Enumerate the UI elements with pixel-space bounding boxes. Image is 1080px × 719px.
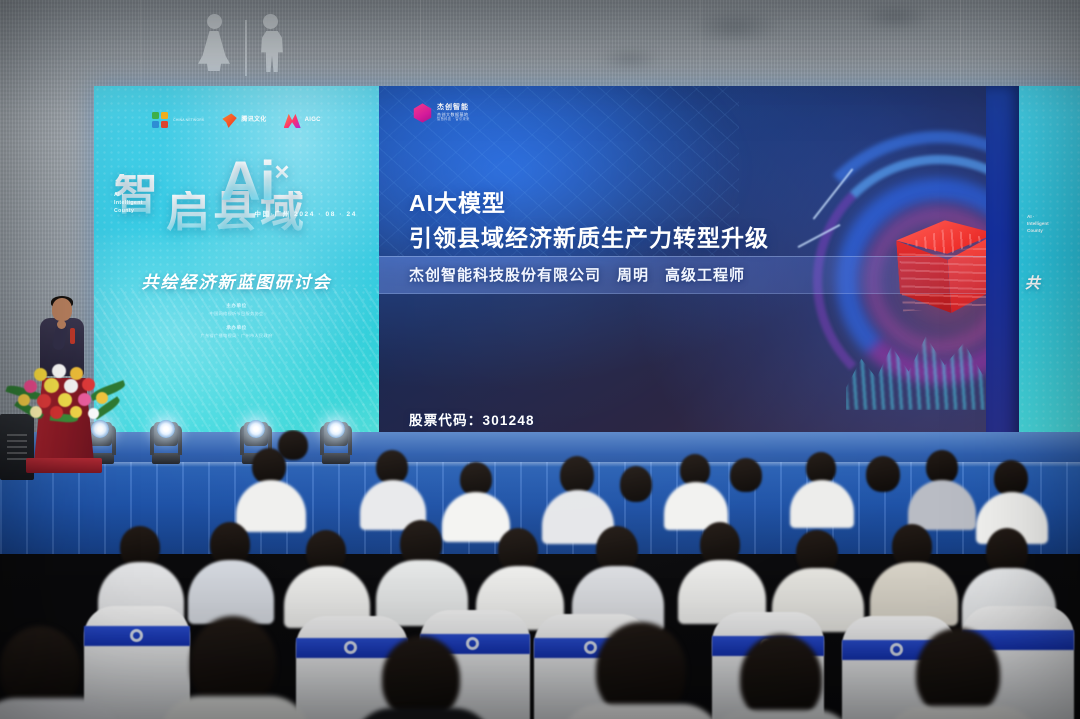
presentation-slide: 杰创智能 杰创大数据基地 智慧科技 · 智引未来 AI大模型 引领县域经济新质生… xyxy=(379,86,1080,468)
sash-ring xyxy=(344,641,357,654)
audience-torso xyxy=(442,492,510,542)
tencent-culture-label: 腾讯文化 xyxy=(241,117,266,124)
audience-torso xyxy=(790,480,854,528)
mosaic-icon xyxy=(152,112,169,129)
audience-head xyxy=(620,466,652,502)
audience-torso xyxy=(236,480,306,532)
secondary-event-banner: AI · Intelligent County 共 xyxy=(1019,86,1080,468)
hero-en-line1: AI · xyxy=(114,192,143,200)
audience-head xyxy=(278,430,308,460)
organizer-label-2: 承办单位 xyxy=(94,324,379,332)
male-pictogram xyxy=(256,14,285,72)
audience-head xyxy=(866,456,900,492)
aigc-logo: AIGC xyxy=(284,113,321,128)
hero-en-line3: County xyxy=(114,208,143,216)
jecreate-logo: 杰创智能 杰创大数据基地 智慧科技 · 智引未来 xyxy=(413,103,470,123)
audience-head xyxy=(460,462,492,496)
edge-en-line2: Intelligent xyxy=(1027,221,1049,228)
edge-en-line3: County xyxy=(1027,228,1049,235)
female-pictogram xyxy=(198,14,230,71)
china-mosaic-logo: CHINA NETWORK xyxy=(152,112,204,129)
conference-photo-scene: CHINA NETWORK 腾讯文化 AIGC 智 Ai× 启县域 xyxy=(0,0,1080,719)
organizer-value-1: 中国网络视听节目服务协会 xyxy=(94,310,379,317)
organizer-label-1: 主办单位 xyxy=(94,302,379,310)
flower-arrangement xyxy=(4,358,126,428)
location-date-text: 中国·广州 2024 · 08 · 24 xyxy=(255,208,357,218)
organizer-block: 主办单位 中国网络视听节目服务协会 承办单位 广东省广播电视局 · 广州市人民政… xyxy=(94,302,379,339)
aigc-label: AIGC xyxy=(305,117,321,124)
hero-en-line2: Intelligent xyxy=(114,200,143,208)
edge-english-subtitle: AI · Intelligent County xyxy=(1027,214,1049,235)
tencent-penguin-icon xyxy=(221,113,237,129)
chair xyxy=(84,606,190,719)
aigc-mark-icon xyxy=(284,113,301,128)
event-strapline: 共绘经济新蓝图研讨会 xyxy=(94,268,379,293)
audience-head xyxy=(926,450,958,484)
audience-torso xyxy=(560,704,722,719)
tencent-culture-logo: 腾讯文化 xyxy=(221,113,266,129)
sash-ring xyxy=(584,641,597,654)
audience-head xyxy=(560,456,594,494)
sash-ring xyxy=(130,629,143,642)
slide-headline-2: 引领县域经济新质生产力转型升级 xyxy=(409,219,769,253)
audience-head xyxy=(994,460,1028,496)
slide-stock-code: 股票代码：301248 xyxy=(409,409,535,429)
slide-headline-1: AI大模型 xyxy=(409,184,506,218)
hero-english-subtitle: AI · Intelligent County xyxy=(114,192,143,215)
audience-head xyxy=(190,616,276,708)
audience-torso xyxy=(160,696,310,719)
audience-head xyxy=(730,458,762,492)
led-screen-wall: CHINA NETWORK 腾讯文化 AIGC 智 Ai× 启县域 xyxy=(94,86,1080,468)
audience-torso xyxy=(188,560,274,624)
sign-divider xyxy=(245,20,247,76)
screen-edge-frame xyxy=(986,86,1020,468)
audience xyxy=(0,430,1080,719)
china-mosaic-logo-label: CHINA NETWORK xyxy=(173,118,204,122)
jecreate-logo-en2: 智慧科技 · 智引未来 xyxy=(437,118,470,122)
audience-head xyxy=(376,450,408,484)
audience-torso xyxy=(908,480,976,530)
audience-head xyxy=(382,636,460,719)
audience-head xyxy=(916,628,1000,718)
jecreate-cube-icon xyxy=(413,103,432,123)
sponsor-logo-strip: CHINA NETWORK 腾讯文化 AIGC xyxy=(94,112,379,129)
slide-presenter-line: 杰创智能科技股份有限公司 周明 高级工程师 xyxy=(409,264,745,285)
edge-en-line1: AI · xyxy=(1027,214,1049,221)
edge-strapline-fragment: 共 xyxy=(1025,272,1040,293)
hero-ai-wordmark: Ai× xyxy=(220,158,288,204)
event-key-visual-banner: CHINA NETWORK 腾讯文化 AIGC 智 Ai× 启县域 xyxy=(94,86,379,468)
sash-ring xyxy=(466,637,479,650)
audience-head xyxy=(740,634,822,719)
restroom-sign xyxy=(196,14,296,76)
organizer-value-2: 广东省广播电视局 · 广州市人民政府 xyxy=(94,332,379,339)
sash-ring xyxy=(890,643,903,656)
